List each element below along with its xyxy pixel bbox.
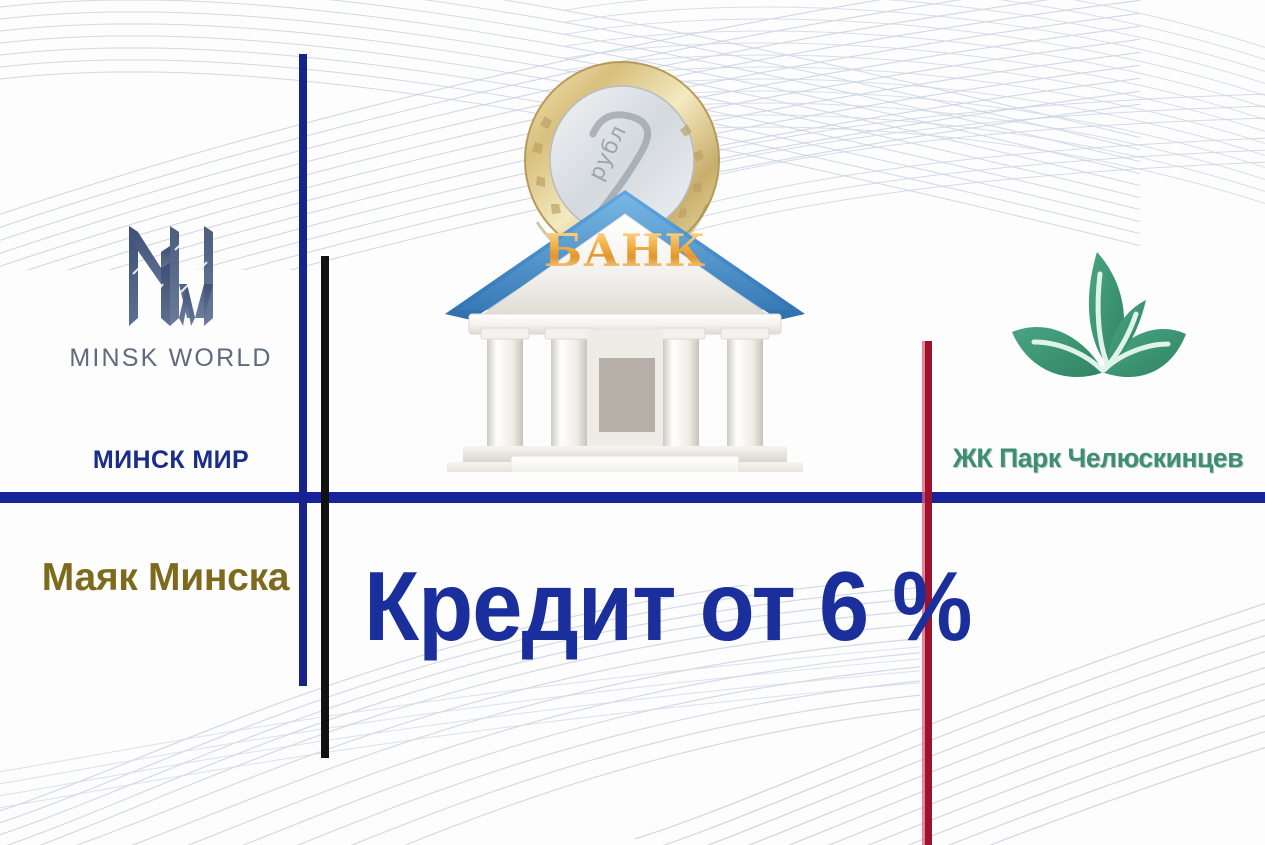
banner-canvas: MINSK WORLD МИНСК МИР Маяк Минска (0, 0, 1265, 845)
minsk-world-wordmark: MINSK WORLD (46, 344, 296, 373)
horizontal-rule-blue (0, 492, 1265, 503)
bank-building-label: БАНК (425, 224, 825, 277)
mayak-minska-label: Маяк Минска (38, 556, 293, 600)
bank-building-with-coin-icon: рубл (425, 42, 825, 472)
park-chelyuskintsev-caption: ЖК Парк Челюскинцев (945, 443, 1251, 474)
vertical-rule-blue (299, 54, 307, 686)
vertical-rule-black (321, 256, 329, 758)
mw-monogram-icon (121, 222, 221, 330)
green-leaves-icon (996, 246, 1201, 411)
park-chelyuskintsev-brand (942, 246, 1254, 411)
minsk-world-brand: MINSK WORLD (46, 222, 296, 373)
minsk-mir-subtitle: МИНСК МИР (46, 446, 296, 475)
page-title: Кредит от 6 % (364, 555, 916, 658)
